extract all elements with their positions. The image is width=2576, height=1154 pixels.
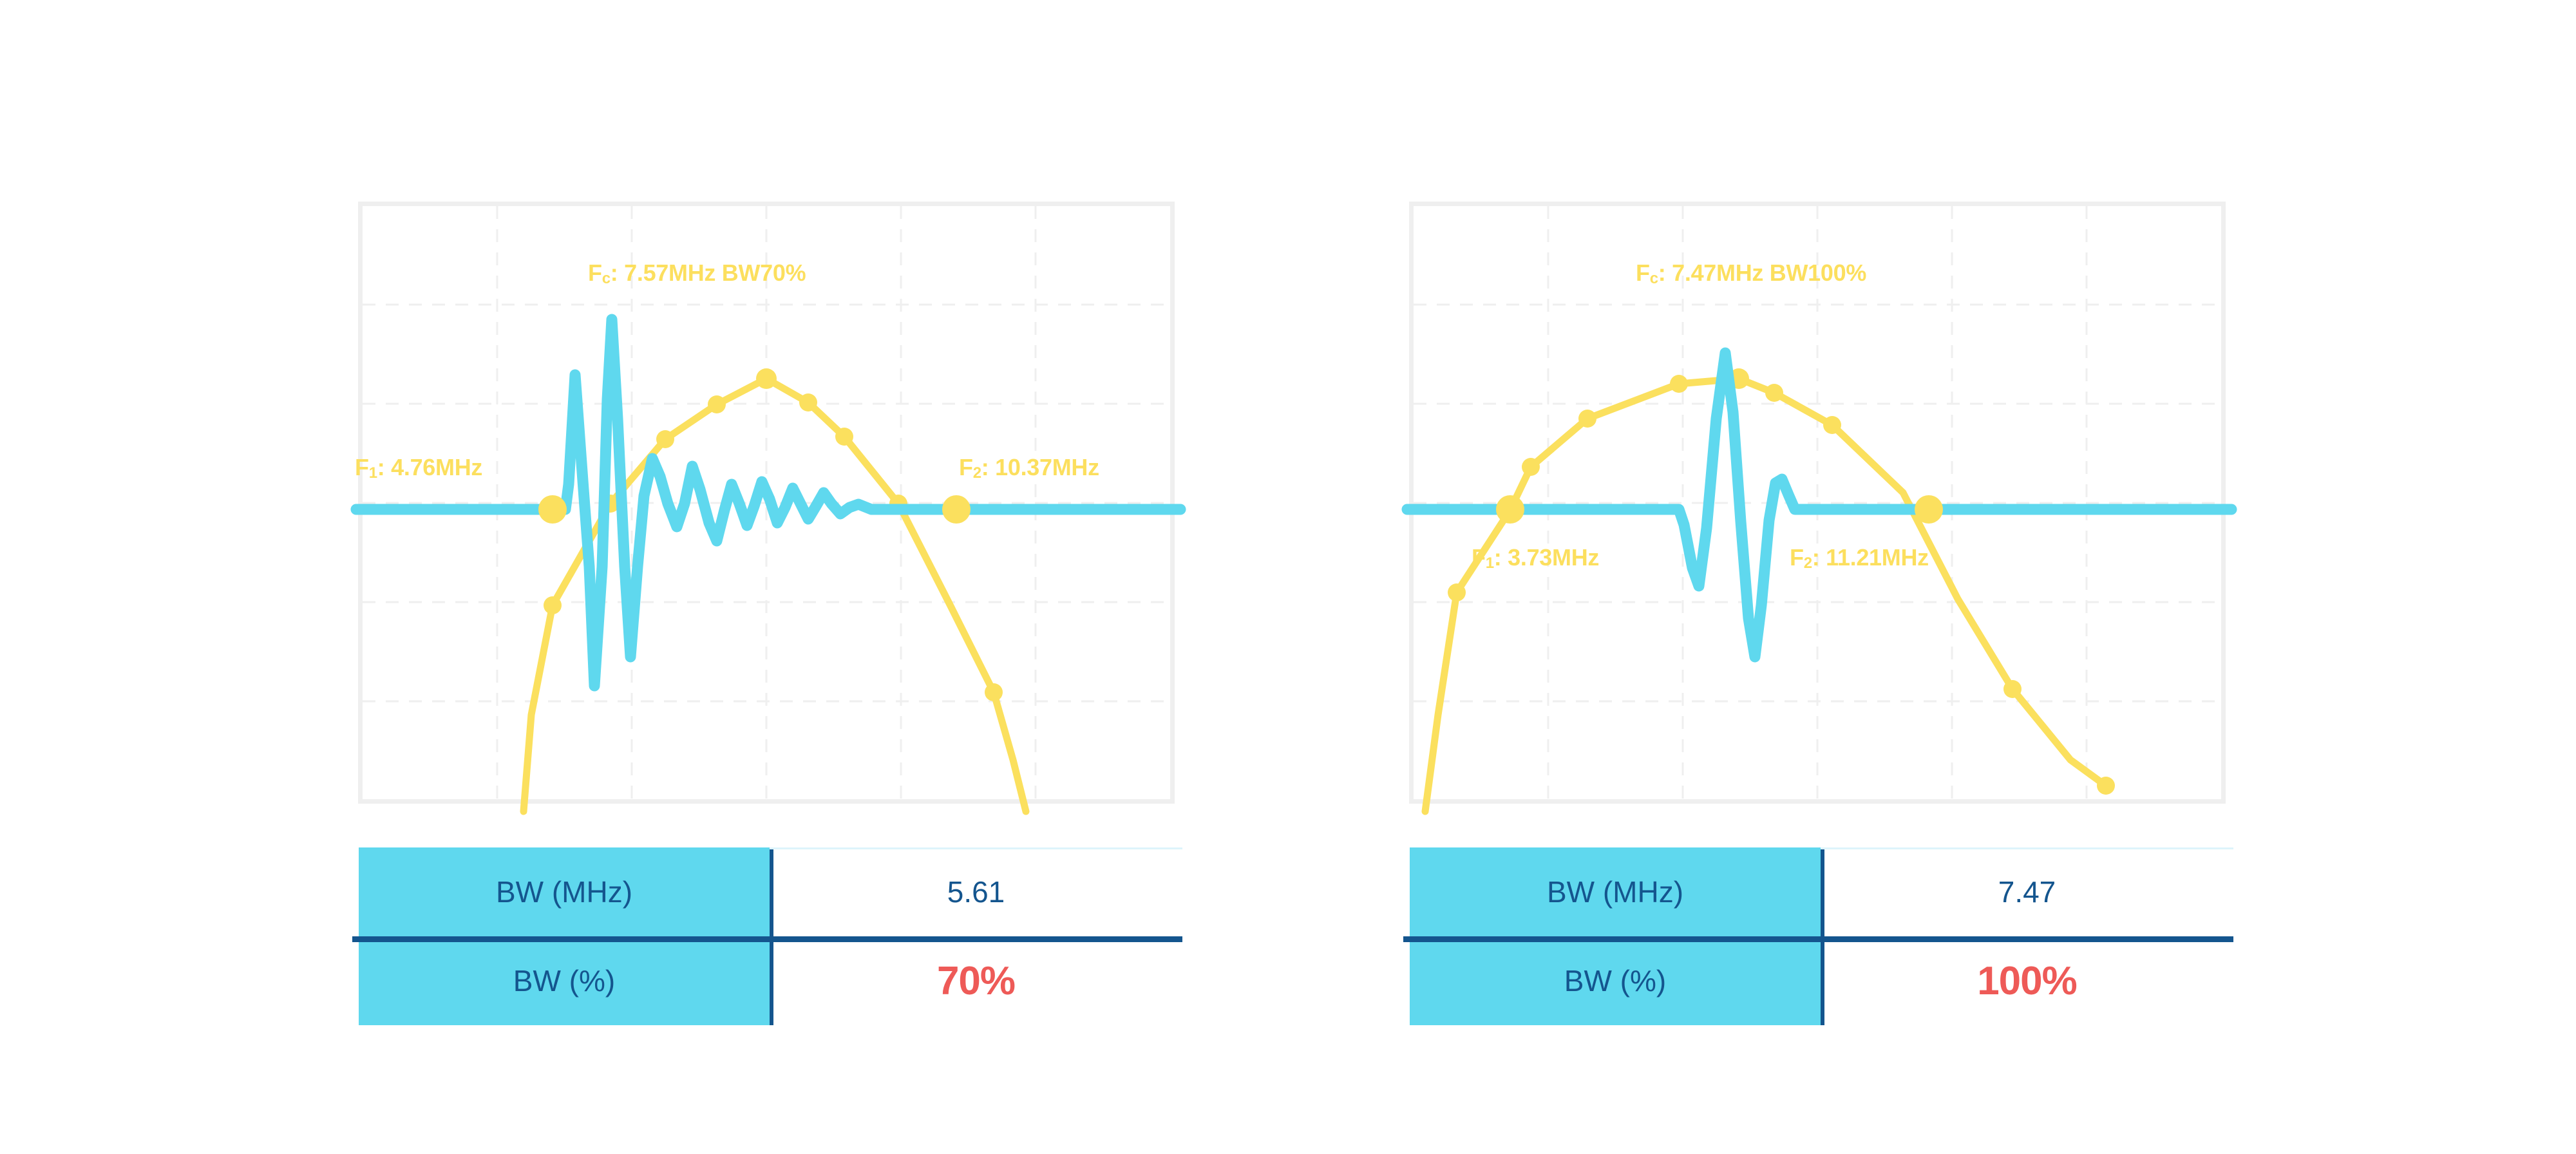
table-cell-bw-mhz: 7.47 — [1821, 847, 2233, 936]
label-fc-symbol: F — [588, 260, 602, 286]
label-f2: F2: 10.37MHz — [959, 456, 1099, 481]
label-f2-subscript: 2 — [1804, 554, 1812, 572]
gridlines — [1414, 206, 2221, 799]
label-f1: F1: 4.76MHz — [355, 456, 482, 481]
table-header-bw-pct: BW (%) — [1410, 936, 1821, 1025]
f2-marker — [1915, 495, 1943, 524]
chart-svg-bw70 — [363, 206, 1170, 799]
label-f1-subscript: 1 — [1486, 554, 1494, 572]
table-row: BW (MHz) 5.61 — [352, 847, 1182, 936]
bw-mhz-value: 5.61 — [947, 875, 1005, 909]
pulse-waveform — [1407, 353, 2231, 657]
table-header-bw-pct: BW (%) — [359, 936, 770, 1025]
label-f1-symbol: F — [1472, 544, 1486, 571]
table-row: BW (%) 70% — [352, 936, 1182, 1025]
table-top-rule — [770, 847, 1182, 849]
label-fc-subscript: c — [602, 270, 611, 287]
bw-pct-value: 70% — [937, 958, 1015, 1004]
bandwidth-table-bw70: BW (MHz) 5.61 BW (%) 70% — [352, 847, 1182, 1025]
table-cell-bw-pct: 100% — [1821, 936, 2233, 1025]
bw-mhz-value: 7.47 — [1998, 875, 2056, 909]
chart-svg-bw100 — [1414, 206, 2221, 799]
f1-marker — [538, 495, 567, 524]
label-f2-text: : 11.21MHz — [1812, 544, 1929, 571]
table-row-divider — [1403, 936, 2233, 942]
label-f2-subscript: 2 — [973, 464, 981, 482]
label-fc-text: : 7.57MHz BW70% — [611, 260, 806, 286]
label-center-frequency: Fc: 7.57MHz BW70% — [588, 261, 806, 287]
label-center-frequency: Fc: 7.47MHz BW100% — [1636, 261, 1866, 287]
table-top-rule — [1821, 847, 2233, 849]
figure-root: Fc: 7.57MHz BW70% F1: 4.76MHz F2: 10.37M… — [0, 0, 2576, 1154]
label-f2-symbol: F — [959, 454, 973, 480]
table-row: BW (%) 100% — [1403, 936, 2233, 1025]
table-cell-bw-pct: 70% — [770, 936, 1182, 1025]
label-fc-text: : 7.47MHz BW100% — [1658, 260, 1866, 286]
table-header-bw-mhz: BW (MHz) — [1410, 847, 1821, 936]
f2-marker — [942, 495, 971, 524]
label-f2-text: : 10.37MHz — [981, 454, 1099, 480]
bw-pct-value: 100% — [1977, 958, 2077, 1004]
chart-bw70: Fc: 7.57MHz BW70% F1: 4.76MHz F2: 10.37M… — [358, 202, 1175, 804]
label-f1: F1: 3.73MHz — [1472, 546, 1599, 571]
label-f1-text: : 3.73MHz — [1494, 544, 1599, 571]
label-fc-symbol: F — [1636, 260, 1650, 286]
label-f2: F2: 11.21MHz — [1790, 546, 1929, 571]
label-f1-symbol: F — [355, 454, 369, 480]
label-f1-text: : 4.76MHz — [377, 454, 482, 480]
label-f1-subscript: 1 — [369, 464, 377, 482]
chart-bw100: Fc: 7.47MHz BW100% F1: 3.73MHz F2: 11.21… — [1409, 202, 2226, 804]
f1-marker — [1496, 495, 1524, 524]
label-f2-symbol: F — [1790, 544, 1804, 571]
table-cell-bw-mhz: 5.61 — [770, 847, 1182, 936]
table-row-divider — [352, 936, 1182, 942]
label-fc-subscript: c — [1650, 270, 1658, 287]
table-row: BW (MHz) 7.47 — [1403, 847, 2233, 936]
chart-plot-area — [1414, 206, 2221, 799]
bandwidth-table-bw100: BW (MHz) 7.47 BW (%) 100% — [1403, 847, 2233, 1025]
table-header-bw-mhz: BW (MHz) — [359, 847, 770, 936]
chart-plot-area — [363, 206, 1170, 799]
